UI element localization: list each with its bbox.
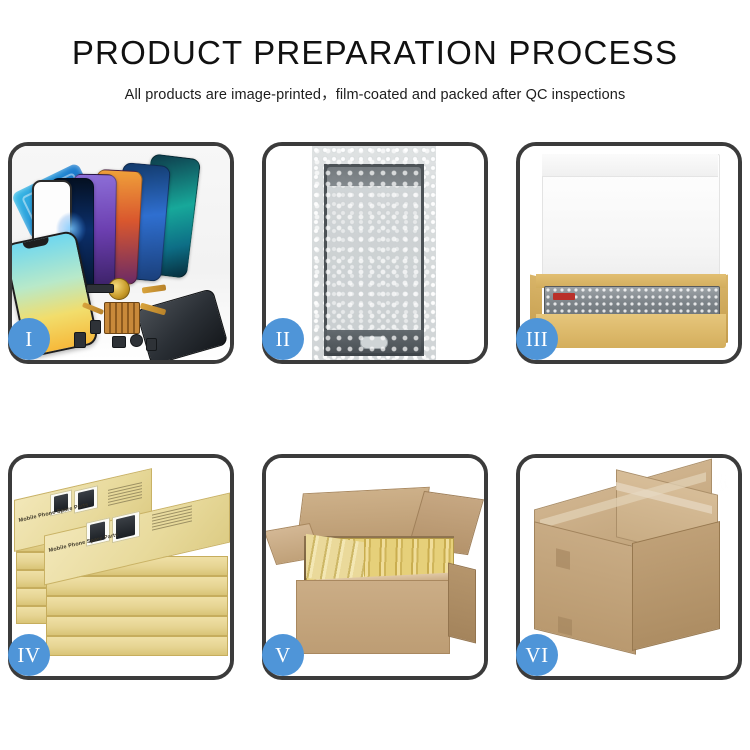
sim-tray-part-icon (146, 338, 157, 351)
step-badge-2: II (262, 318, 304, 360)
process-step-grid: I II III (8, 142, 742, 680)
page-subtitle: All products are image-printed，film-coat… (0, 83, 750, 104)
page-title: PRODUCT PREPARATION PROCESS (0, 36, 750, 71)
speaker-part-icon (112, 336, 126, 348)
page-header: PRODUCT PREPARATION PROCESS All products… (0, 0, 750, 104)
camera-part-icon (90, 320, 101, 334)
red-label-sticker (553, 293, 575, 300)
step-badge-6: VI (516, 634, 558, 676)
process-step-panel-6[interactable]: VI (516, 454, 742, 680)
bubble-wrap-sheet (312, 146, 436, 360)
process-step-panel-1[interactable]: I (8, 142, 234, 364)
battery-part-icon (74, 332, 86, 348)
carton-hand-hole-top (556, 548, 570, 569)
chip-grid-icon (104, 302, 140, 334)
process-step-panel-5[interactable]: V (262, 454, 488, 680)
carton-side-face (448, 563, 476, 644)
connector-part-icon (86, 284, 114, 293)
carton-hand-hole-bottom (558, 616, 572, 635)
step-badge-3: III (516, 318, 558, 360)
button-part-icon (130, 334, 143, 347)
sealed-carton-side-face (632, 521, 720, 651)
phone-graphic-front-2 (116, 515, 135, 539)
process-step-panel-4[interactable]: Mobile Phone Spare Parts Mobile Phone Sp… (8, 454, 234, 680)
step-badge-5: V (262, 634, 304, 676)
stacked-box-right-4 (46, 616, 228, 636)
process-step-panel-2[interactable]: II (262, 142, 488, 364)
process-step-panel-3[interactable]: III (516, 142, 742, 364)
carton-front-face (296, 580, 450, 654)
stacked-box-right-2 (46, 576, 228, 596)
home-button-icon (360, 336, 388, 349)
step-badge-1: I (8, 318, 50, 360)
wrapped-phone-screen (324, 164, 424, 356)
kraft-box-front (536, 314, 726, 348)
box-lid-flap (542, 154, 718, 177)
stacked-box-right-5 (46, 636, 228, 656)
stacked-box-right-3 (46, 596, 228, 616)
step-badge-4: IV (8, 634, 50, 676)
